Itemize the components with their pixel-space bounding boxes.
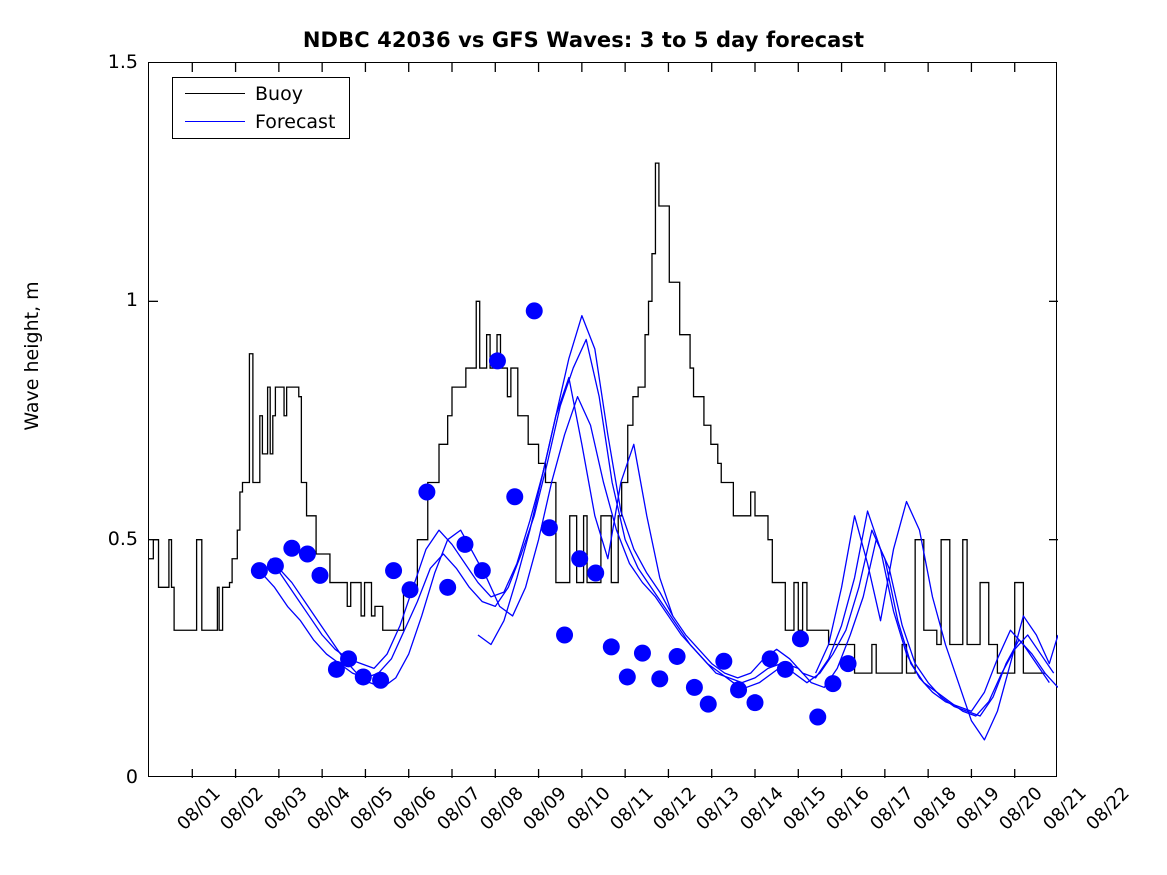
forecast-marker	[541, 519, 558, 536]
forecast-marker	[747, 694, 764, 711]
y-axis-ticks: 00.511.5	[78, 62, 138, 777]
forecast-marker	[267, 557, 284, 574]
x-tick-label: 08/12	[649, 783, 701, 835]
forecast-marker	[603, 638, 620, 655]
forecast-marker	[651, 670, 668, 687]
x-tick-label: 08/01	[173, 783, 225, 835]
forecast-marker	[686, 679, 703, 696]
x-tick-label: 08/08	[476, 783, 528, 835]
legend-item-forecast: Forecast	[173, 109, 351, 135]
x-tick-label: 08/13	[693, 783, 745, 835]
series-buoy	[149, 163, 1045, 673]
x-tick-label: 08/17	[866, 783, 918, 835]
forecast-marker	[669, 648, 686, 665]
legend-label-buoy: Buoy	[255, 81, 303, 107]
x-tick-label: 08/07	[433, 783, 485, 835]
forecast-marker	[700, 696, 717, 713]
forecast-marker	[340, 650, 357, 667]
legend-swatch-buoy	[185, 93, 245, 94]
forecast-marker	[792, 630, 809, 647]
y-tick-label: 1.5	[78, 51, 138, 73]
x-tick-label: 08/19	[952, 783, 1004, 835]
x-tick-label: 08/14	[736, 783, 788, 835]
forecast-marker	[619, 668, 636, 685]
y-tick-label: 0.5	[78, 528, 138, 550]
forecast-marker	[571, 550, 588, 567]
y-axis-label: Wave height, m	[21, 216, 43, 496]
forecast-marker	[506, 488, 523, 505]
x-tick-label: 08/05	[346, 783, 398, 835]
x-tick-label: 08/22	[1082, 783, 1134, 835]
x-axis-ticks: 08/0108/0208/0308/0408/0508/0608/0708/08…	[148, 777, 1057, 873]
y-tick-label: 0	[78, 766, 138, 788]
y-tick-marks	[149, 301, 1058, 539]
x-tick-label: 08/21	[1039, 783, 1091, 835]
chart-page: NDBC 42036 vs GFS Waves: 3 to 5 day fore…	[0, 0, 1167, 875]
plot-area	[148, 62, 1057, 777]
forecast-marker	[489, 352, 506, 369]
forecast-marker	[299, 545, 316, 562]
forecast-marker	[634, 645, 651, 662]
forecast-marker	[824, 675, 841, 692]
forecast-marker	[730, 681, 747, 698]
forecast-marker	[311, 567, 328, 584]
forecast-marker	[456, 536, 473, 553]
forecast-marker	[355, 668, 372, 685]
forecast-marker	[840, 655, 857, 672]
forecast-marker	[418, 484, 435, 501]
forecast-marker	[402, 581, 419, 598]
legend-swatch-forecast	[185, 121, 245, 122]
x-tick-label: 08/18	[909, 783, 961, 835]
forecast-marker	[251, 562, 268, 579]
x-tick-label: 08/20	[996, 783, 1048, 835]
x-tick-label: 08/16	[822, 783, 874, 835]
y-tick-label: 1	[78, 289, 138, 311]
forecast-marker	[809, 708, 826, 725]
chart-legend: Buoy Forecast	[172, 77, 350, 139]
forecast-marker	[439, 579, 456, 596]
legend-item-buoy: Buoy	[173, 81, 351, 107]
forecast-marker	[526, 302, 543, 319]
x-tick-label: 08/04	[303, 783, 355, 835]
x-tick-label: 08/11	[606, 783, 658, 835]
chart-title: NDBC 42036 vs GFS Waves: 3 to 5 day fore…	[0, 28, 1167, 52]
x-tick-label: 08/02	[216, 783, 268, 835]
forecast-marker	[762, 650, 779, 667]
forecast-marker	[715, 653, 732, 670]
forecast-marker	[587, 565, 604, 582]
forecast-markers	[251, 302, 857, 725]
x-tick-label: 08/03	[260, 783, 312, 835]
x-tick-label: 08/09	[519, 783, 571, 835]
legend-label-forecast: Forecast	[255, 109, 335, 135]
forecast-marker	[777, 661, 794, 678]
forecast-marker	[372, 672, 389, 689]
x-tick-label: 08/10	[563, 783, 615, 835]
forecast-marker	[283, 540, 300, 557]
x-tick-marks	[192, 63, 1014, 778]
plot-svg	[149, 63, 1058, 778]
x-tick-label: 08/06	[390, 783, 442, 835]
forecast-marker	[556, 627, 573, 644]
forecast-marker	[385, 562, 402, 579]
forecast-marker	[474, 562, 491, 579]
x-tick-label: 08/15	[779, 783, 831, 835]
